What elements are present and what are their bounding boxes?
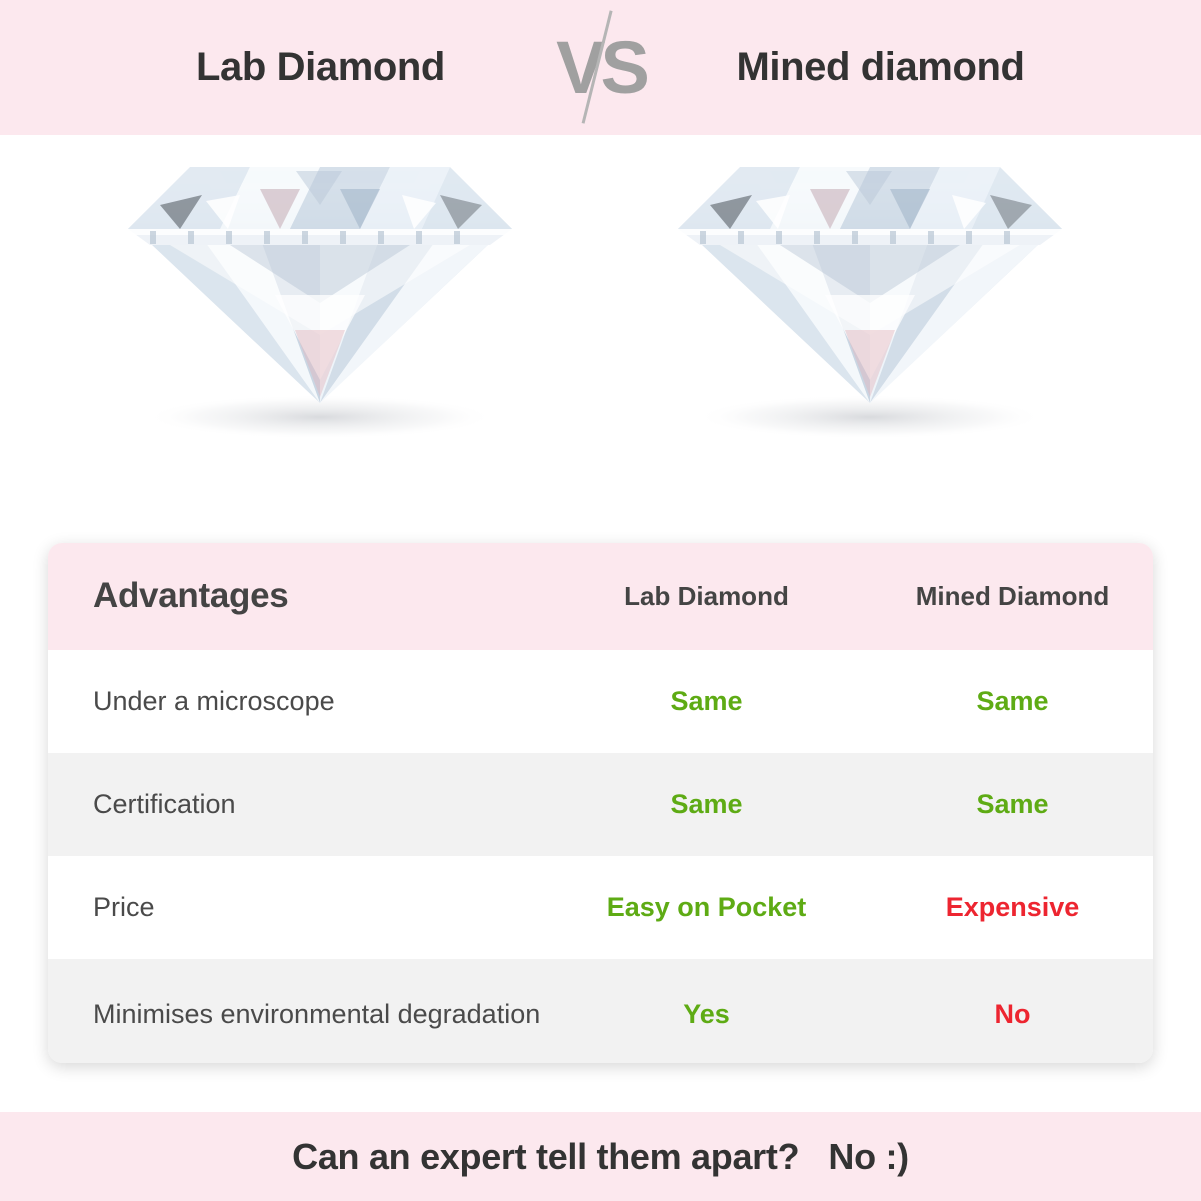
row-lab-value: Same: [541, 686, 872, 717]
header-right-title: Mined diamond: [661, 45, 1101, 90]
row-mined-value: Expensive: [872, 892, 1153, 923]
table-header-row: Advantages Lab Diamond Mined Diamond: [48, 543, 1153, 650]
row-mined-value: Same: [872, 686, 1153, 717]
column-header-advantages: Advantages: [48, 574, 541, 619]
row-lab-value: Same: [541, 789, 872, 820]
row-mined-value: Same: [872, 789, 1153, 820]
footer-band: Can an expert tell them apart? No :): [0, 1112, 1201, 1201]
header-left-title: Lab Diamond: [101, 45, 541, 90]
table-row: Minimises environmental degradation Yes …: [48, 959, 1153, 1063]
comparison-table: Advantages Lab Diamond Mined Diamond Und…: [48, 543, 1153, 1063]
column-header-lab-diamond: Lab Diamond: [541, 581, 872, 612]
table-row: Under a microscope Same Same: [48, 650, 1153, 753]
table-row: Price Easy on Pocket Expensive: [48, 856, 1153, 959]
row-feature-label: Minimises environmental degradation: [48, 997, 541, 1032]
footer-question: Can an expert tell them apart? No :): [292, 1136, 909, 1178]
row-lab-value: Yes: [541, 999, 872, 1030]
versus-label: VS: [556, 31, 645, 105]
row-lab-value: Easy on Pocket: [541, 892, 872, 923]
lab-diamond-image: [110, 145, 530, 525]
row-mined-value: No: [872, 999, 1153, 1030]
mined-diamond-image: [660, 145, 1080, 525]
versus-badge: VS: [541, 8, 661, 128]
table-row: Certification Same Same: [48, 753, 1153, 856]
infographic-root: Lab Diamond VS Mined diamond: [0, 0, 1201, 1201]
header-band: Lab Diamond VS Mined diamond: [0, 0, 1201, 135]
row-feature-label: Certification: [48, 787, 541, 822]
diamond-image-row: [0, 135, 1201, 535]
row-feature-label: Under a microscope: [48, 684, 541, 719]
column-header-mined-diamond: Mined Diamond: [872, 581, 1153, 612]
row-feature-label: Price: [48, 890, 541, 925]
